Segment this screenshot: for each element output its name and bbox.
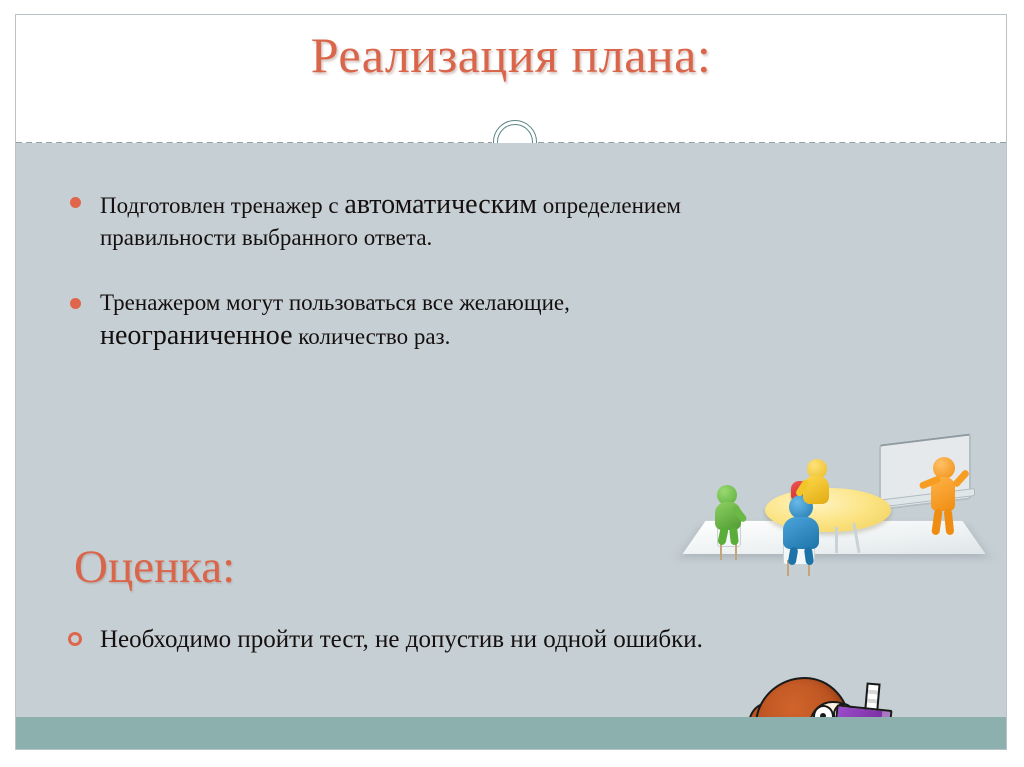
list-item-text: Подготовлен тренажер с автоматическим оп… — [100, 187, 758, 252]
list-item: Тренажером могут пользоваться все желающ… — [58, 288, 758, 353]
bullet-list-bottom: Необходимо пройти тест, не допустив ни о… — [58, 623, 758, 686]
list-item: Необходимо пройти тест, не допустив ни о… — [58, 623, 758, 656]
list-item: Подготовлен тренажер с автоматическим оп… — [58, 187, 758, 252]
page-title: Реализация плана: — [16, 29, 1006, 82]
text-segment: Подготовлен тренажер с — [100, 193, 344, 218]
section-heading: Оценка: — [74, 543, 235, 592]
text-segment: Тренажером могут пользоваться все желающ… — [100, 290, 570, 315]
slide-body: Подготовлен тренажер с автоматическим оп… — [16, 143, 1006, 717]
footer-accent-bar — [16, 717, 1006, 750]
presentation-slide: Реализация плана: Подготовлен тренажер с… — [15, 14, 1007, 750]
list-item-text: Тренажером могут пользоваться все желающ… — [100, 288, 758, 353]
text-segment: Необходимо пройти тест, не допустив ни о… — [100, 626, 703, 653]
bullet-list-top: Подготовлен тренажер с автоматическим оп… — [58, 187, 758, 384]
text-segment: количество раз. — [293, 324, 451, 349]
text-segment-emphasis: автоматическим — [344, 189, 537, 220]
meeting-clipart-image — [687, 433, 987, 588]
bullet-ring-icon — [68, 632, 82, 646]
text-segment-emphasis: неограниченное — [100, 320, 293, 351]
clipart-table-leg — [835, 527, 838, 553]
list-item-text: Необходимо пройти тест, не допустив ни о… — [100, 623, 758, 656]
bullet-dot-icon — [70, 298, 81, 309]
bullet-dot-icon — [70, 197, 81, 208]
